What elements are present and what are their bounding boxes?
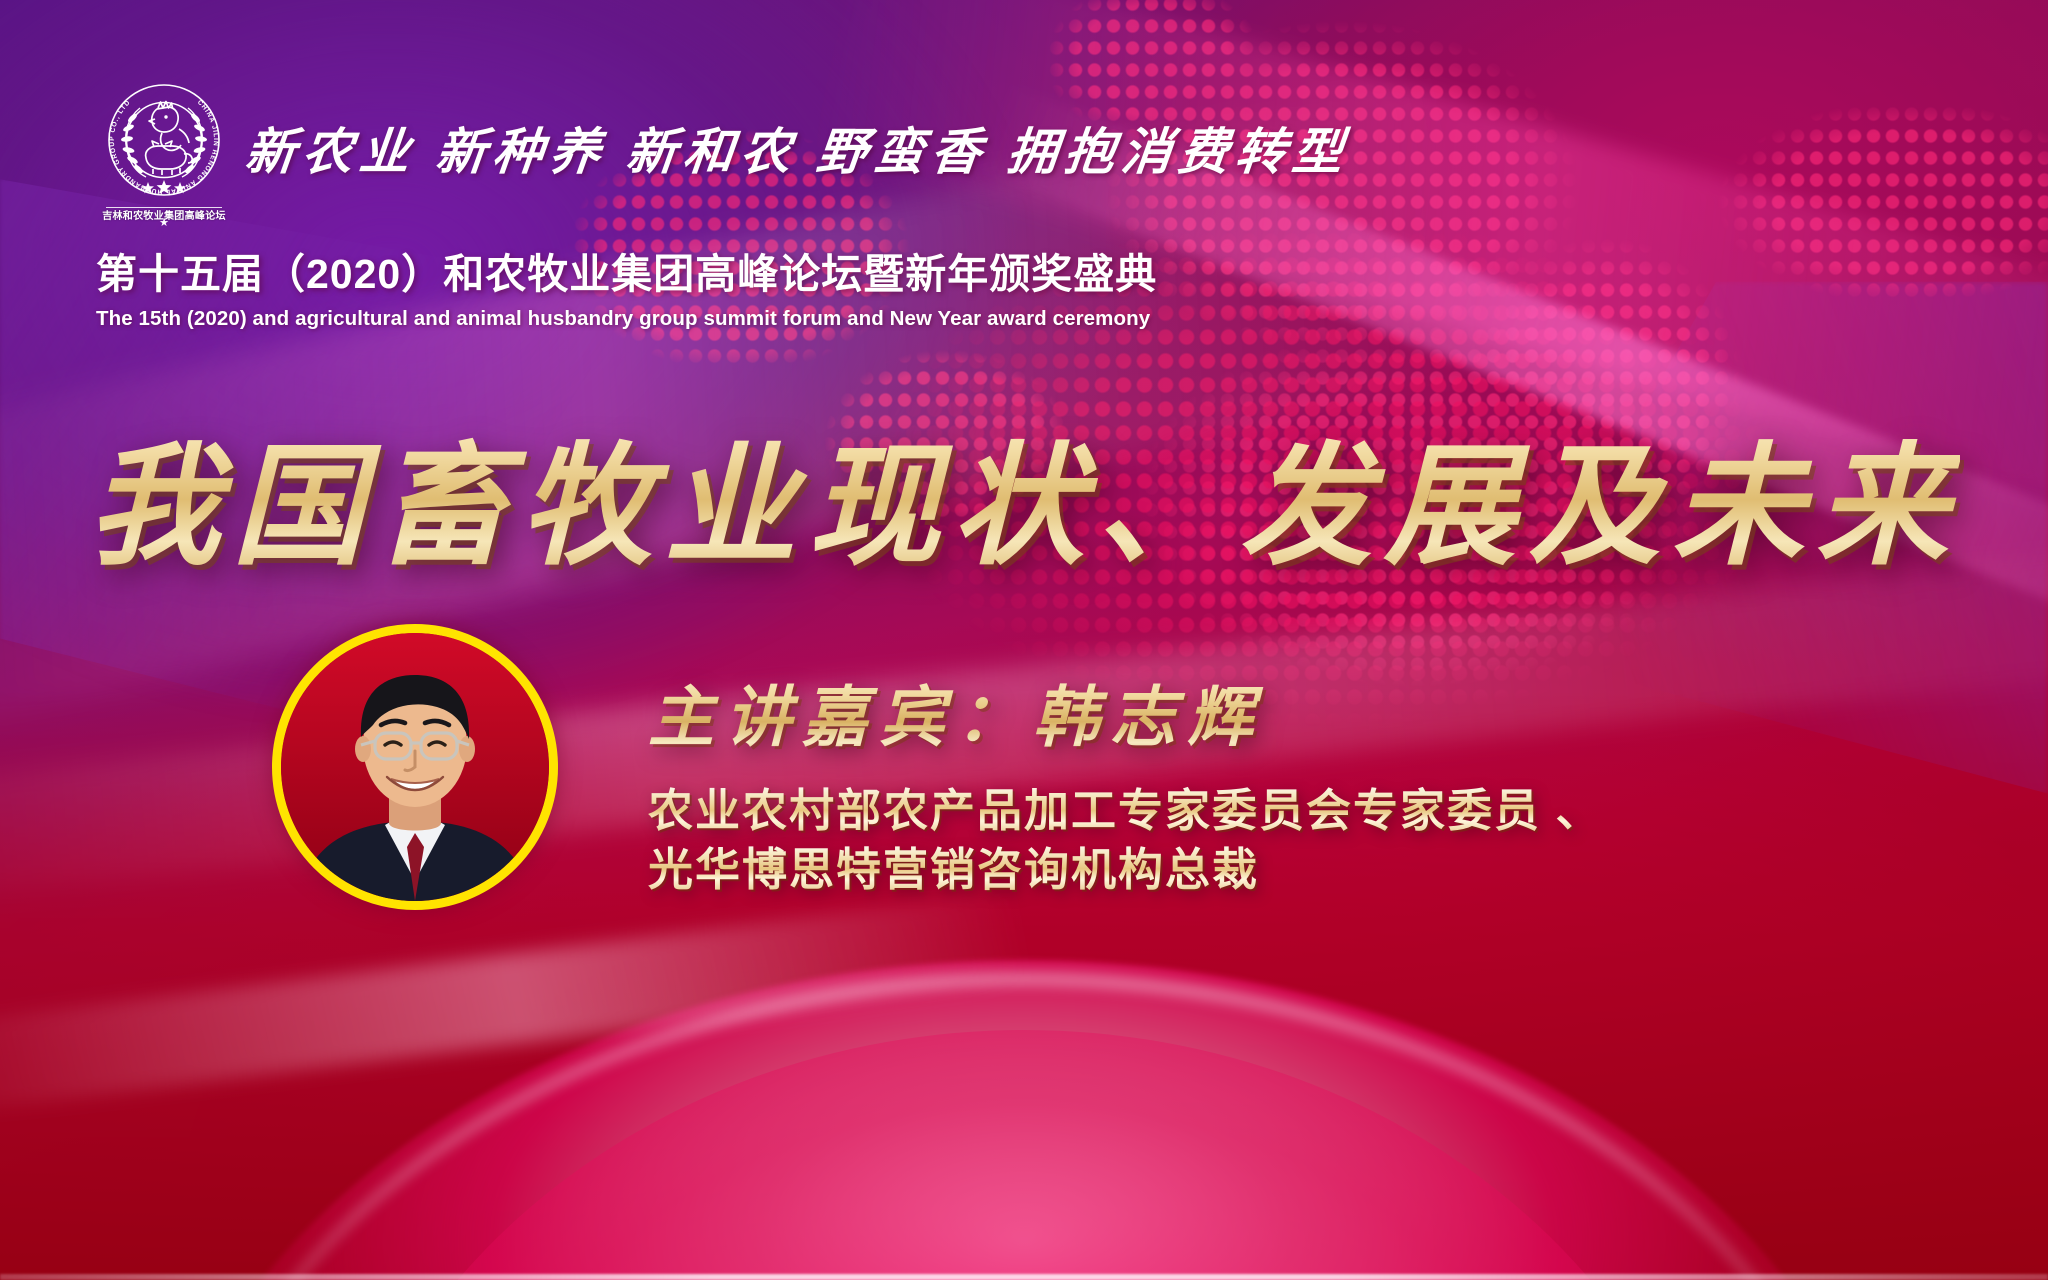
logo-star-icon: ★ [159,218,169,229]
page-title: 我国畜牧业现状、发展及未来 [88,400,1960,591]
event-subtitle-english: The 15th (2020) and agricultural and ani… [96,307,1096,331]
bottom-edge-line [0,1274,2048,1280]
event-title: 第十五届（2020）和农牧业集团高峰论坛暨新年颁奖盛典 [96,240,1096,300]
brand-slogan: 新农业 新种养 新和农 野蛮香 拥抱消费转型 [242,112,1354,184]
rooster-pig-wreath-emblem-icon: CHINA JILIN HENONG ANIMAL HUSBANDRY GROU… [96,78,232,228]
speaker-name-line: 主讲嘉宾：韩志辉 [648,664,1264,760]
credential-line: 光华博思特营销咨询机构总裁 [648,841,1603,900]
credential-line: 农业农村部农产品加工专家委员会专家委员 、 [648,782,1603,841]
speaker-portrait-icon [281,633,549,901]
brand-row: CHINA JILIN HENONG ANIMAL HUSBANDRY GROU… [96,78,1096,228]
company-logo-emblem: CHINA JILIN HENONG ANIMAL HUSBANDRY GROU… [96,78,232,228]
poster-header: CHINA JILIN HENONG ANIMAL HUSBANDRY GROU… [96,78,1096,331]
poster-canvas: CHINA JILIN HENONG ANIMAL HUSBANDRY GROU… [0,0,2048,1280]
speaker-portrait [272,624,558,910]
speaker-credentials: 农业农村部农产品加工专家委员会专家委员 、 光华博思特营销咨询机构总裁 [648,782,1603,899]
